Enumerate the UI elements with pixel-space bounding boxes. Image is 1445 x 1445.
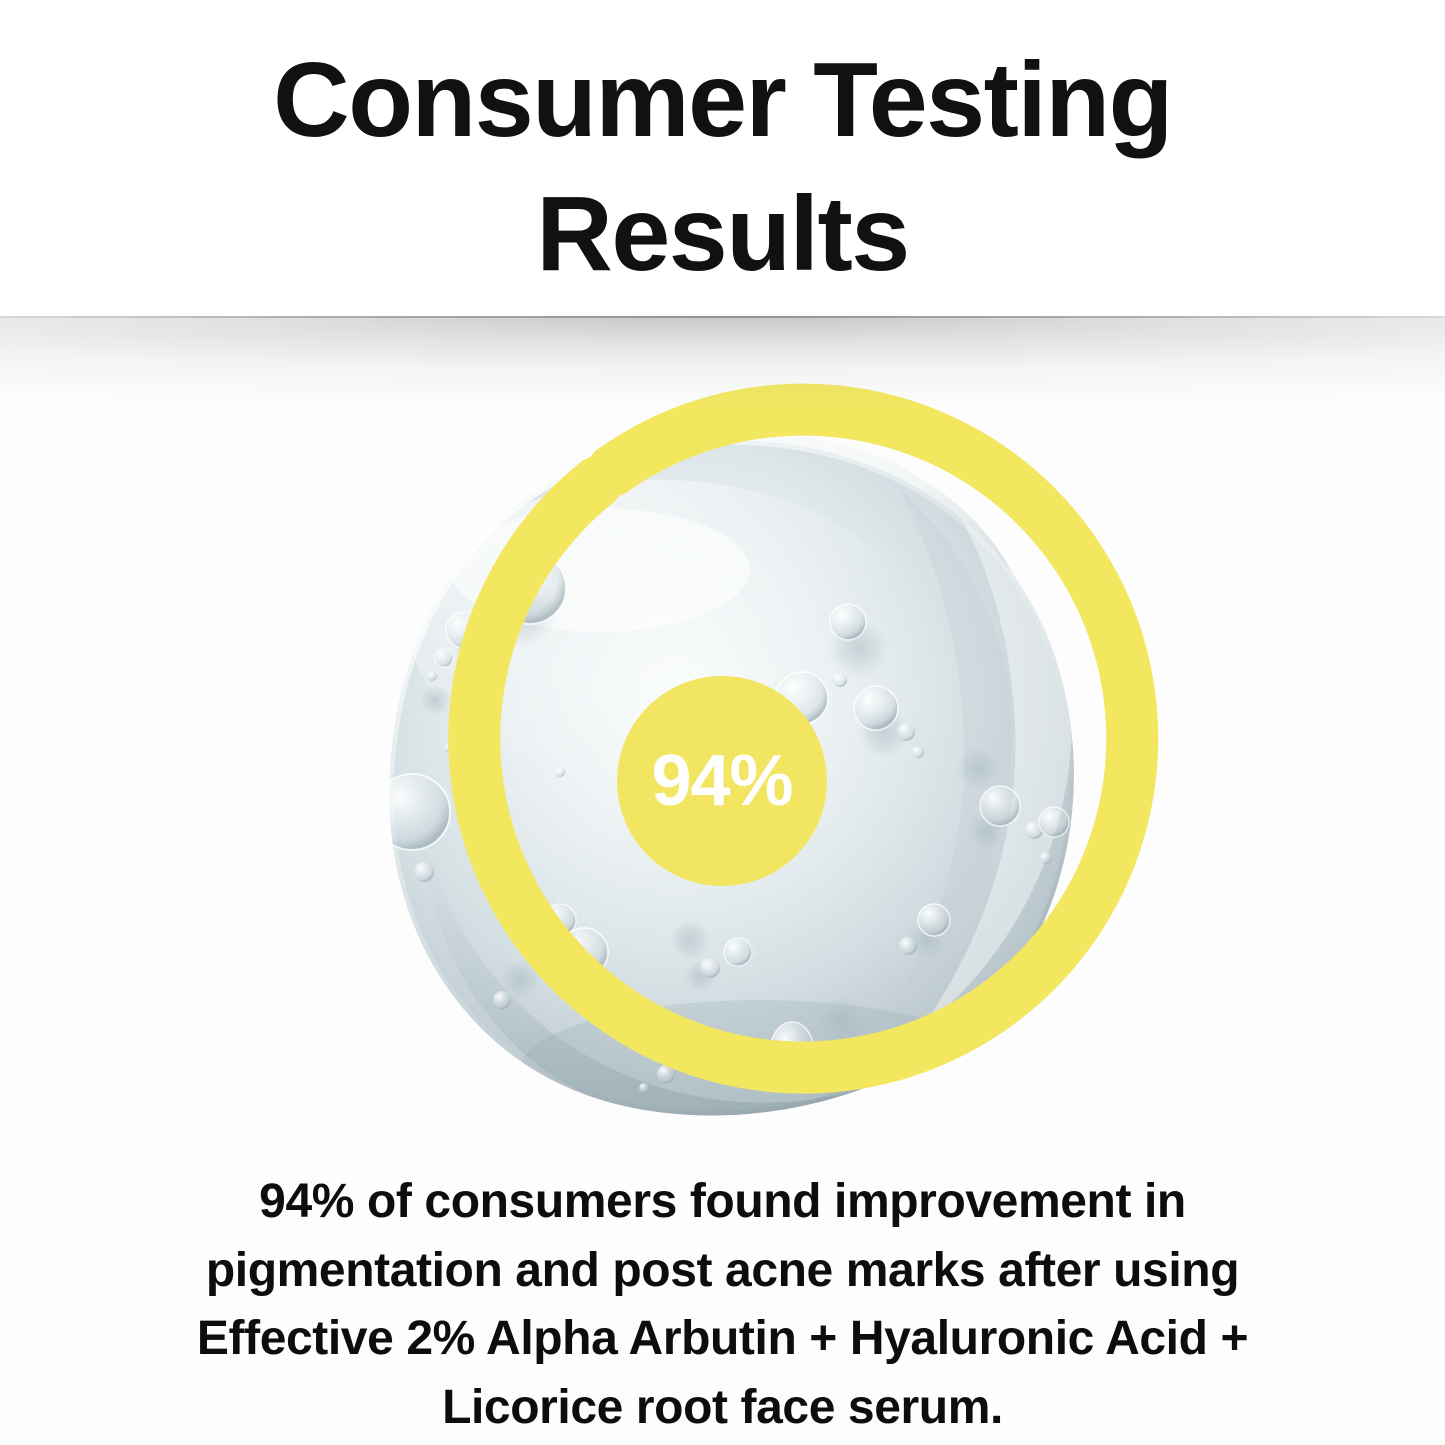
percent-badge-circle [0, 380, 1445, 1180]
header-divider-line [0, 316, 1445, 318]
header-drop-shadow [0, 316, 1445, 408]
result-caption: 94% of consumers found improvement in pi… [110, 1168, 1335, 1443]
result-graphic: 94% [0, 380, 1445, 1180]
consumer-testing-results-poster: 94% Consumer Testing Results 94% of cons… [0, 0, 1445, 1445]
header-band: Consumer Testing Results [0, 0, 1445, 316]
page-title: Consumer Testing Results [0, 34, 1445, 301]
